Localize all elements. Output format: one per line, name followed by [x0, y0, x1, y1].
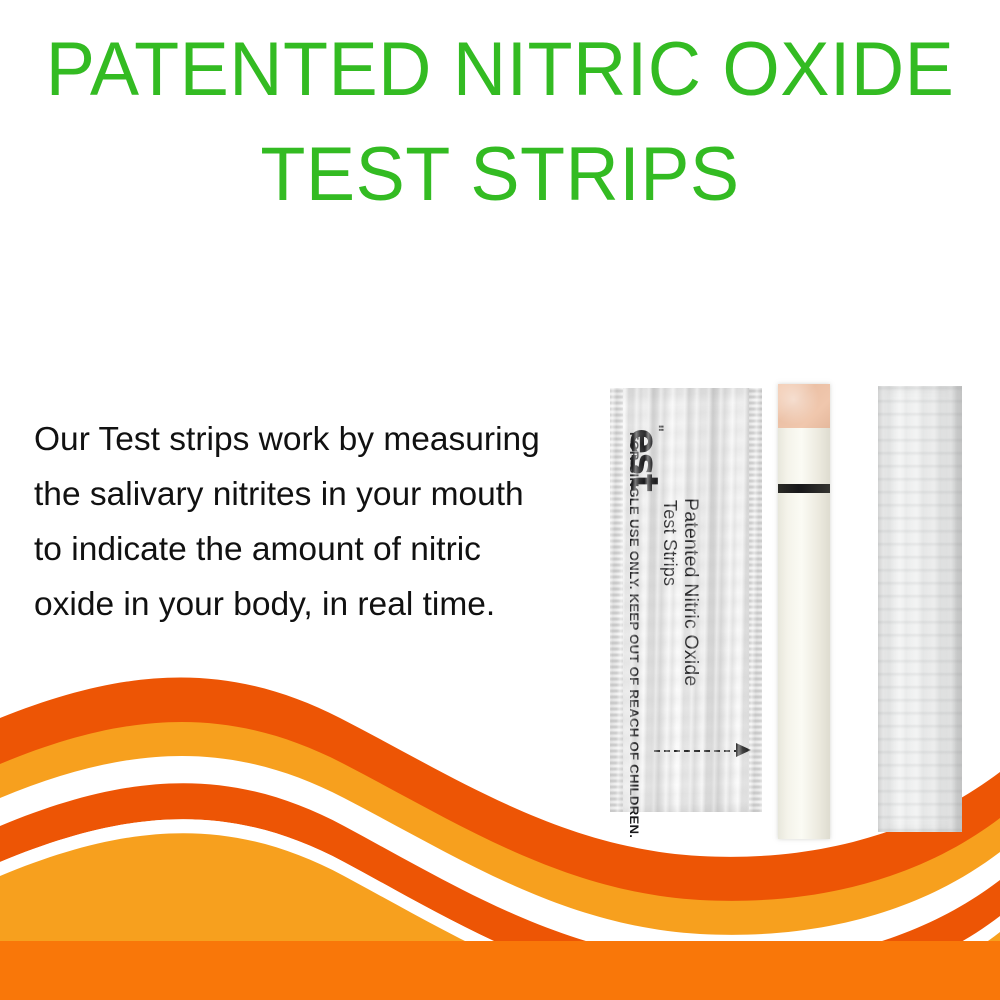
description-line-2: the salivary nitrites in your mouth [34, 467, 600, 522]
test-strip-black-band [778, 484, 830, 493]
test-strip-reagent-pad [778, 384, 830, 428]
tear-direction-arrow-icon [736, 743, 751, 757]
foil-packet-subtitle-1: Patented Nitric Oxide [679, 498, 702, 686]
foil-packet-warning-text: FOR SINGLE USE ONLY. KEEP OUT OF REACH O… [627, 432, 641, 838]
foil-packet-brand-logo: ''est [622, 424, 666, 490]
description-line-3: to indicate the amount of nitric [34, 522, 600, 577]
test-strip [778, 384, 830, 839]
right-sachet-packet [878, 386, 962, 832]
product-marketing-image: PATENTED NITRIC OXIDE TEST STRIPS Our Te… [0, 0, 1000, 1000]
page-title: PATENTED NITRIC OXIDE TEST STRIPS [15, 18, 985, 228]
foil-packet-logo-word: est [622, 428, 666, 490]
foil-packet: FOR SINGLE USE ONLY. KEEP OUT OF REACH O… [610, 388, 762, 812]
foil-packet-tear-line [654, 750, 740, 752]
description-line-1: Our Test strips work by measuring [34, 412, 600, 467]
description-line-4: oxide in your body, in real time. [34, 577, 600, 632]
page-title-line-2: TEST STRIPS [15, 123, 985, 228]
bottom-orange-bar [0, 941, 1000, 1000]
description-paragraph: Our Test strips work by measuring the sa… [34, 412, 600, 632]
product-photo-group: FOR SINGLE USE ONLY. KEEP OUT OF REACH O… [590, 370, 1000, 840]
page-title-line-1: PATENTED NITRIC OXIDE [15, 18, 985, 123]
foil-packet-subtitle-2: Test Strips [659, 500, 680, 586]
